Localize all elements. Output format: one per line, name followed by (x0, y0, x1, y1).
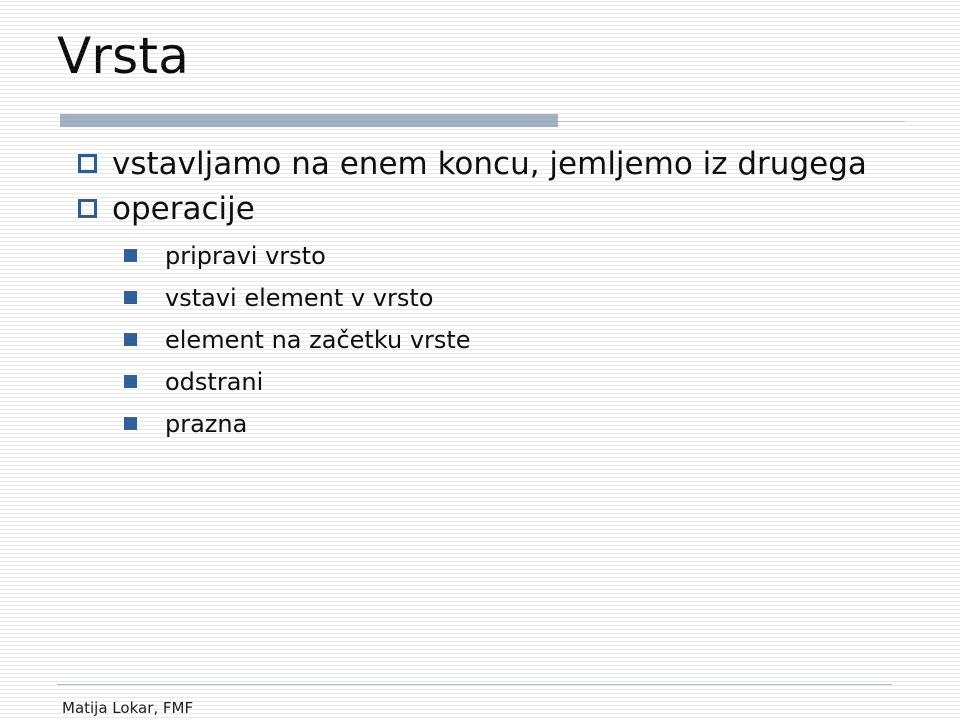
sub-bullet-list: pripravi vrsto vstavi element v vrsto el… (0, 235, 960, 445)
list-item-label: operacije (112, 191, 255, 227)
list-item-label: vstavi element v vrsto (165, 284, 433, 312)
footer-author: Matija Lokar, FMF (62, 698, 193, 718)
page-title: Vrsta (57, 27, 189, 85)
list-item: element na začetku vrste (0, 319, 960, 361)
filled-square-bullet-icon (124, 417, 137, 430)
list-item-label: pripravi vrsto (165, 242, 326, 270)
list-item-label: odstrani (165, 368, 263, 396)
list-item: operacije (0, 188, 960, 231)
filled-square-bullet-icon (124, 375, 137, 388)
bullet-body: vstavljamo na enem koncu, jemljemo iz dr… (0, 143, 960, 445)
filled-square-bullet-icon (124, 291, 137, 304)
footer-divider (57, 684, 892, 685)
hollow-square-bullet-icon (78, 199, 97, 218)
list-item-label: prazna (165, 410, 247, 438)
slide-canvas: Vrsta vstavljamo na enem koncu, jemljemo… (0, 0, 960, 720)
filled-square-bullet-icon (124, 249, 137, 262)
list-item: odstrani (0, 361, 960, 403)
list-item-label: element na začetku vrste (165, 326, 471, 354)
title-accent-bar (60, 114, 558, 127)
list-item-label: vstavljamo na enem koncu, jemljemo iz dr… (112, 146, 867, 182)
list-item: pripravi vrsto (0, 235, 960, 277)
hollow-square-bullet-icon (78, 154, 97, 173)
list-item: vstavi element v vrsto (0, 277, 960, 319)
filled-square-bullet-icon (124, 333, 137, 346)
list-item: vstavljamo na enem koncu, jemljemo iz dr… (0, 143, 960, 186)
list-item: prazna (0, 403, 960, 445)
